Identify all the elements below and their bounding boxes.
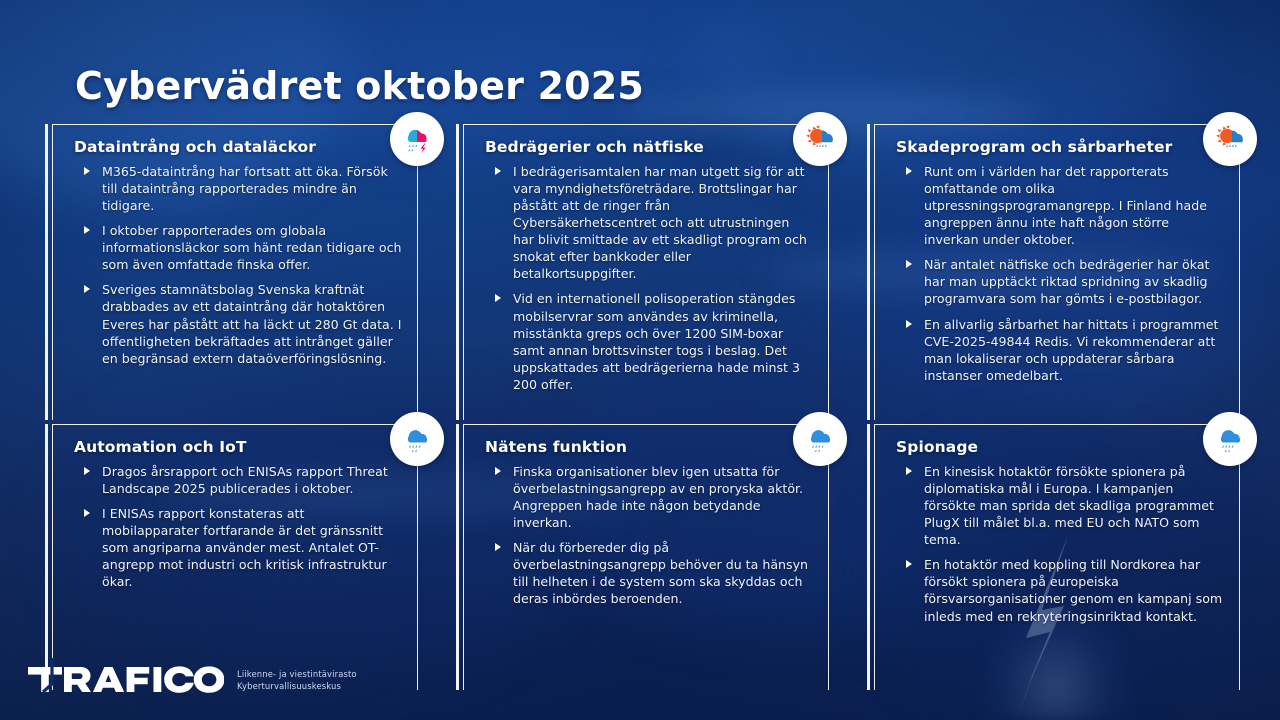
panel-automation: Automation och IoT Dragos årsrapport och… (52, 424, 418, 690)
panel-accent-bar (456, 424, 459, 690)
list-item-text: En hotaktör med koppling till Nordkorea … (924, 557, 1222, 623)
weather-badge-spionage (1203, 412, 1257, 466)
bullet-list: Runt om i världen har det rapporterats o… (896, 163, 1224, 384)
list-item: En allvarlig sårbarhet har hittats i pro… (896, 316, 1224, 384)
list-item-text: En kinesisk hotaktör försökte spionera p… (924, 464, 1214, 547)
list-item-text: Sveriges stamnätsbolag Svenska kraftnät … (102, 282, 401, 365)
bullet-list: Finska organisationer blev igen utsatta … (485, 463, 813, 608)
logo-subtitle: Liikenne- ja viestintävirasto Kyberturva… (237, 669, 357, 698)
sun-cloud-rain-icon (1210, 119, 1250, 159)
panel-natens-funktion: Nätens funktion Finska organisationer bl… (463, 424, 829, 690)
list-item-text: När antalet nätfiske och bedrägerier har… (924, 257, 1210, 306)
panel-body: Dataintrång och dataläckor M365-dataintr… (74, 138, 402, 375)
list-item-text: När du förbereder dig på överbelastnings… (513, 540, 808, 606)
list-item-text: Vid en internationell polisoperation stä… (513, 291, 800, 391)
list-item-text: Finska organisationer blev igen utsatta … (513, 464, 803, 530)
panel-accent-bar (867, 124, 870, 420)
list-item: Runt om i världen har det rapporterats o… (896, 163, 1224, 248)
list-item-text: I oktober rapporterades om globala infor… (102, 223, 402, 272)
traficom-logo: Liikenne- ja viestintävirasto Kyberturva… (28, 658, 357, 698)
weather-badge-skadeprogram (1203, 112, 1257, 166)
bullet-marker-icon (84, 285, 90, 293)
traficom-wordmark-icon (28, 658, 224, 698)
panel-body: Nätens funktion Finska organisationer bl… (485, 438, 813, 616)
panel-heading: Nätens funktion (485, 438, 813, 456)
panel-body: Skadeprogram och sårbarheter Runt om i v… (896, 138, 1224, 392)
bullet-marker-icon (84, 226, 90, 234)
list-item: Sveriges stamnätsbolag Svenska kraftnät … (74, 281, 402, 366)
bullet-marker-icon (495, 543, 501, 551)
panel-skadeprogram: Skadeprogram och sårbarheter Runt om i v… (874, 124, 1240, 420)
list-item: Vid en internationell polisoperation stä… (485, 290, 813, 392)
list-item: När du förbereder dig på överbelastnings… (485, 539, 813, 607)
bullet-list: M365-dataintrång har fortsatt att öka. F… (74, 163, 402, 367)
sun-cloud-rain-icon (800, 119, 840, 159)
list-item-text: I ENISAs rapport konstateras att mobilap… (102, 506, 387, 589)
list-item-text: En allvarlig sårbarhet har hittats i pro… (924, 317, 1218, 383)
panel-body: Spionage En kinesisk hotaktör försökte s… (896, 438, 1224, 633)
list-item: I bedrägerisamtalen har man utgett sig f… (485, 163, 813, 282)
panel-body: Bedrägerier och nätfiske I bedrägerisamt… (485, 138, 813, 401)
weather-badge-natens-funktion (793, 412, 847, 466)
list-item-text: M365-dataintrång har fortsatt att öka. F… (102, 164, 388, 213)
logo-subtitle-line2: Kyberturvallisuuskeskus (237, 681, 357, 693)
weather-badge-automation (390, 412, 444, 466)
bullet-marker-icon (84, 467, 90, 475)
bullet-marker-icon (906, 260, 912, 268)
list-item: Finska organisationer blev igen utsatta … (485, 463, 813, 531)
panel-accent-bar (867, 424, 870, 690)
list-item: En hotaktör med koppling till Nordkorea … (896, 556, 1224, 624)
bullet-list: En kinesisk hotaktör försökte spionera p… (896, 463, 1224, 625)
list-item: När antalet nätfiske och bedrägerier har… (896, 256, 1224, 307)
panel-heading: Dataintrång och dataläckor (74, 138, 402, 156)
list-item: En kinesisk hotaktör försökte spionera p… (896, 463, 1224, 548)
list-item: Dragos årsrapport och ENISAs rapport Thr… (74, 463, 402, 497)
bullet-marker-icon (495, 467, 501, 475)
list-item: I ENISAs rapport konstateras att mobilap… (74, 505, 402, 590)
logo-subtitle-line1: Liikenne- ja viestintävirasto (237, 669, 357, 681)
list-item: M365-dataintrång har fortsatt att öka. F… (74, 163, 402, 214)
panel-bedragerier: Bedrägerier och nätfiske I bedrägerisamt… (463, 124, 829, 420)
weather-badge-dataintrang (390, 112, 444, 166)
bullet-marker-icon (84, 167, 90, 175)
panel-heading: Bedrägerier och nätfiske (485, 138, 813, 156)
panel-heading: Spionage (896, 438, 1224, 456)
panel-dataintrang: Dataintrång och dataläckor M365-dataintr… (52, 124, 418, 420)
panel-heading: Skadeprogram och sårbarheter (896, 138, 1224, 156)
list-item-text: Runt om i världen har det rapporterats o… (924, 164, 1207, 247)
panel-accent-bar (45, 424, 48, 690)
panel-heading: Automation och IoT (74, 438, 402, 456)
weather-badge-bedragerier (793, 112, 847, 166)
bullet-marker-icon (906, 467, 912, 475)
panel-grid: Dataintrång och dataläckor M365-dataintr… (0, 0, 1280, 720)
bullet-marker-icon (495, 294, 501, 302)
list-item-text: I bedrägerisamtalen har man utgett sig f… (513, 164, 807, 281)
bullet-marker-icon (495, 167, 501, 175)
panel-accent-bar (456, 124, 459, 420)
panel-accent-bar (45, 124, 48, 420)
list-item: I oktober rapporterades om globala infor… (74, 222, 402, 273)
bullet-marker-icon (906, 320, 912, 328)
cloud-rain-icon (1210, 419, 1250, 459)
bullet-marker-icon (84, 509, 90, 517)
cloud-rain-lightning-icon (397, 119, 437, 159)
bullet-list: Dragos årsrapport och ENISAs rapport Thr… (74, 463, 402, 590)
bullet-list: I bedrägerisamtalen har man utgett sig f… (485, 163, 813, 393)
list-item-text: Dragos årsrapport och ENISAs rapport Thr… (102, 464, 388, 496)
panel-spionage: Spionage En kinesisk hotaktör försökte s… (874, 424, 1240, 690)
panel-body: Automation och IoT Dragos årsrapport och… (74, 438, 402, 598)
bullet-marker-icon (906, 167, 912, 175)
cloud-rain-icon (397, 419, 437, 459)
bullet-marker-icon (906, 560, 912, 568)
cloud-rain-icon (800, 419, 840, 459)
